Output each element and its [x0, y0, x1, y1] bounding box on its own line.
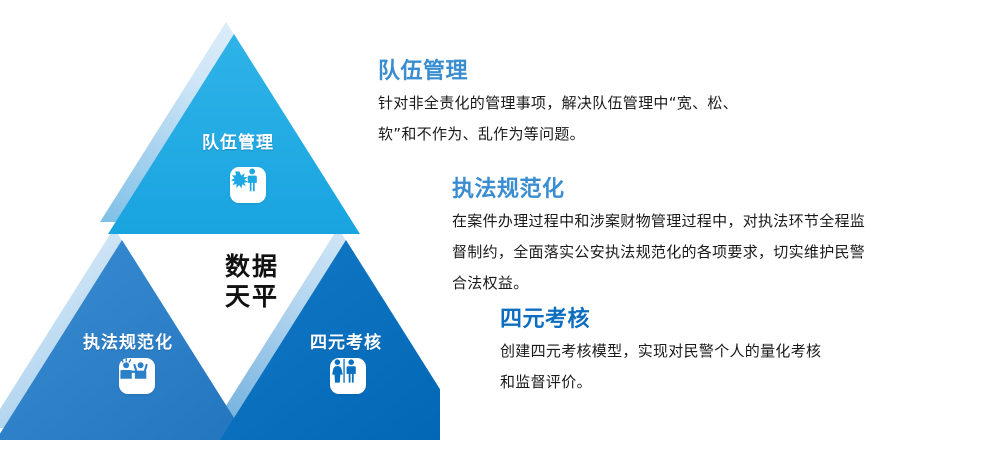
body-line: 合法权益。 [452, 268, 986, 299]
center-title-line-1: 数据 [197, 252, 307, 282]
pyramid-diagram: 队伍管理 执法规范化 四元考核 数据 天平 [0, 0, 440, 454]
center-title-line-2: 天平 [197, 282, 307, 312]
body-line: 针对非全责化的管理事项，解决队伍管理中“宽、松、 [378, 88, 878, 119]
block-body: 在案件办理过程中和涉案财物管理过程中，对执法环节全程监 督制约，全面落实公安执法… [452, 206, 986, 299]
male-female-pair-icon [330, 358, 366, 394]
pyramid-label-left: 执法规范化 [83, 328, 173, 353]
person-alert-icon [230, 167, 266, 203]
body-line: 软”和不作为、乱作为等问题。 [378, 119, 878, 150]
pyramid-segments [0, 34, 440, 440]
body-line: 和监督评价。 [500, 367, 986, 398]
pyramid-label-right: 四元考核 [310, 328, 382, 353]
text-block-team-management: 队伍管理 针对非全责化的管理事项，解决队伍管理中“宽、松、 软”和不作为、乱作为… [378, 58, 878, 150]
body-line: 督制约，全面落实公安执法规范化的各项要求，切实维护民警 [452, 237, 986, 268]
text-block-four-element-assessment: 四元考核 创建四元考核模型，实现对民警个人的量化考核 和监督评价。 [500, 306, 986, 398]
pyramid-svg [0, 0, 440, 454]
block-heading: 执法规范化 [452, 176, 986, 204]
block-heading: 队伍管理 [378, 58, 878, 86]
two-people-speaking-icon [119, 358, 155, 394]
pyramid-label-top: 队伍管理 [202, 128, 274, 153]
body-line: 创建四元考核模型，实现对民警个人的量化考核 [500, 336, 986, 367]
block-body: 创建四元考核模型，实现对民警个人的量化考核 和监督评价。 [500, 336, 986, 398]
block-body: 针对非全责化的管理事项，解决队伍管理中“宽、松、 软”和不作为、乱作为等问题。 [378, 88, 878, 150]
text-block-law-enforcement-standardization: 执法规范化 在案件办理过程中和涉案财物管理过程中，对执法环节全程监 督制约，全面… [452, 176, 986, 299]
slide-canvas: 队伍管理 执法规范化 四元考核 数据 天平 [0, 0, 986, 454]
body-line: 在案件办理过程中和涉案财物管理过程中，对执法环节全程监 [452, 206, 986, 237]
block-heading: 四元考核 [500, 306, 986, 334]
diagram-center-title: 数据 天平 [197, 252, 307, 312]
